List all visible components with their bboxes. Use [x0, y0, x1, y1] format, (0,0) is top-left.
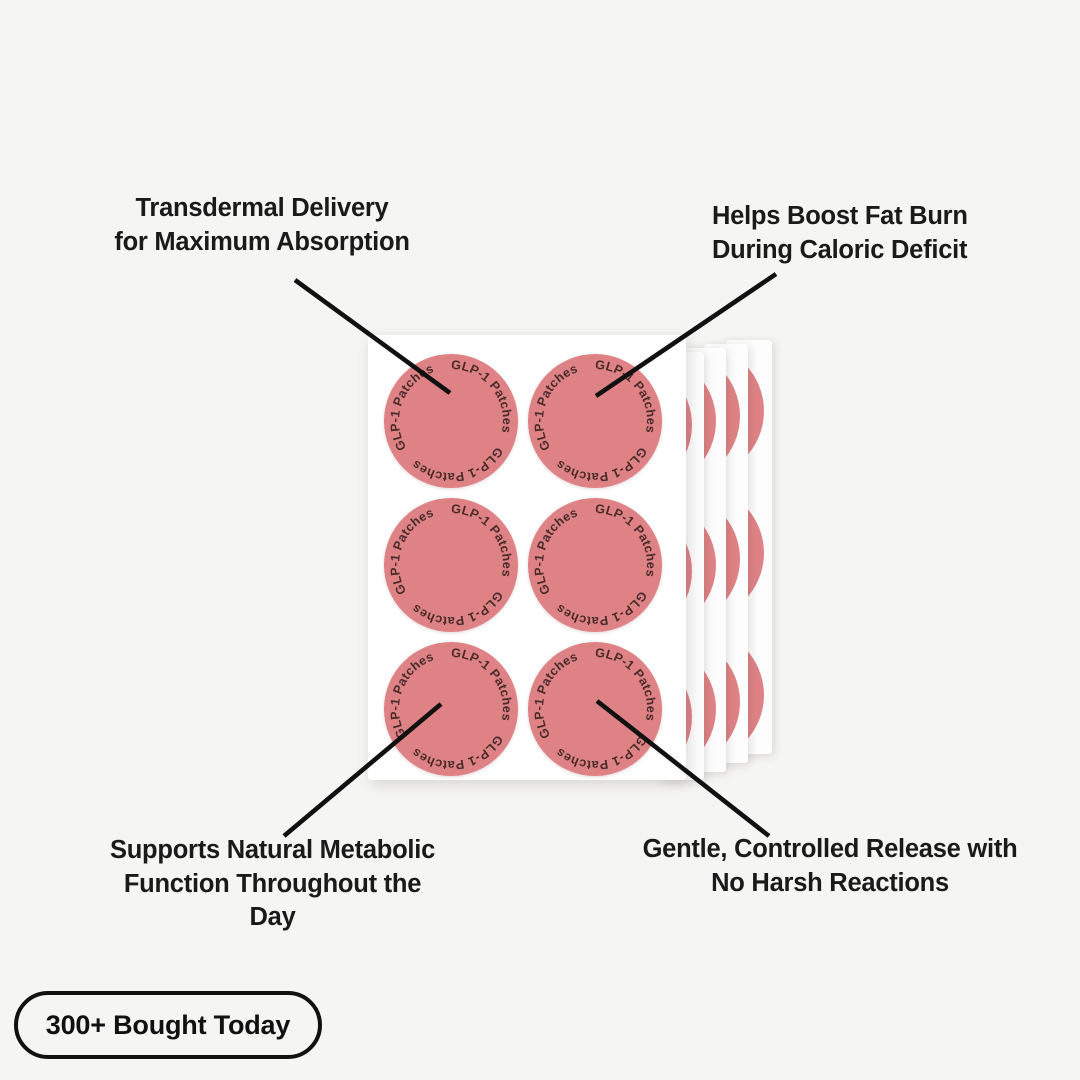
callout-transdermal-delivery: Transdermal Delivery for Maximum Absorpt…	[112, 192, 412, 259]
infographic-canvas: GLP-1 Patches GLP-1 Patches GLP-1 Patche…	[0, 0, 1080, 1080]
patch-sheet-back-1	[660, 352, 704, 780]
patch-sheet-back-3	[704, 344, 748, 763]
leader-line-top-left	[295, 280, 450, 393]
patch-sheet-front: GLP-1 Patches GLP-1 Patches GLP-1 Patche…	[368, 335, 686, 780]
callout-metabolic-function: Supports Natural Metabolic Function Thro…	[100, 834, 445, 935]
social-proof-badge-label: 300+ Bought Today	[46, 1010, 290, 1041]
leader-line-top-right	[596, 274, 776, 396]
leader-line-bottom-left	[284, 704, 441, 836]
patch-ring-text: GLP-1 Patches GLP-1 Patches GLP-1 Patche…	[379, 343, 514, 484]
patch-ring-text: GLP-1 Patches GLP-1 Patches GLP-1 Patche…	[379, 631, 514, 772]
patch-4: GLP-1 Patches GLP-1 Patches GLP-1 Patche…	[528, 498, 662, 632]
patch-2: GLP-1 Patches GLP-1 Patches GLP-1 Patche…	[528, 354, 662, 488]
patch-ring-text: GLP-1 Patches GLP-1 Patches GLP-1 Patche…	[523, 343, 658, 484]
patch-ring-text: GLP-1 Patches GLP-1 Patches GLP-1 Patche…	[523, 487, 658, 628]
patch-1: GLP-1 Patches GLP-1 Patches GLP-1 Patche…	[384, 354, 518, 488]
patch-5: GLP-1 Patches GLP-1 Patches GLP-1 Patche…	[384, 642, 518, 776]
social-proof-badge: 300+ Bought Today	[14, 991, 322, 1059]
patch-sheet-back-4	[726, 340, 772, 754]
patch-6: GLP-1 Patches GLP-1 Patches GLP-1 Patche…	[528, 642, 662, 776]
patch-sheet-back-2	[682, 348, 726, 772]
patch-3: GLP-1 Patches GLP-1 Patches GLP-1 Patche…	[384, 498, 518, 632]
patch-ring-text: GLP-1 Patches GLP-1 Patches GLP-1 Patche…	[379, 487, 514, 628]
callout-fat-burn: Helps Boost Fat Burn During Caloric Defi…	[712, 200, 1022, 267]
callout-controlled-release: Gentle, Controlled Release with No Harsh…	[636, 833, 1024, 900]
patch-ring-text: GLP-1 Patches GLP-1 Patches GLP-1 Patche…	[523, 631, 658, 772]
leader-line-bottom-right	[597, 701, 769, 836]
